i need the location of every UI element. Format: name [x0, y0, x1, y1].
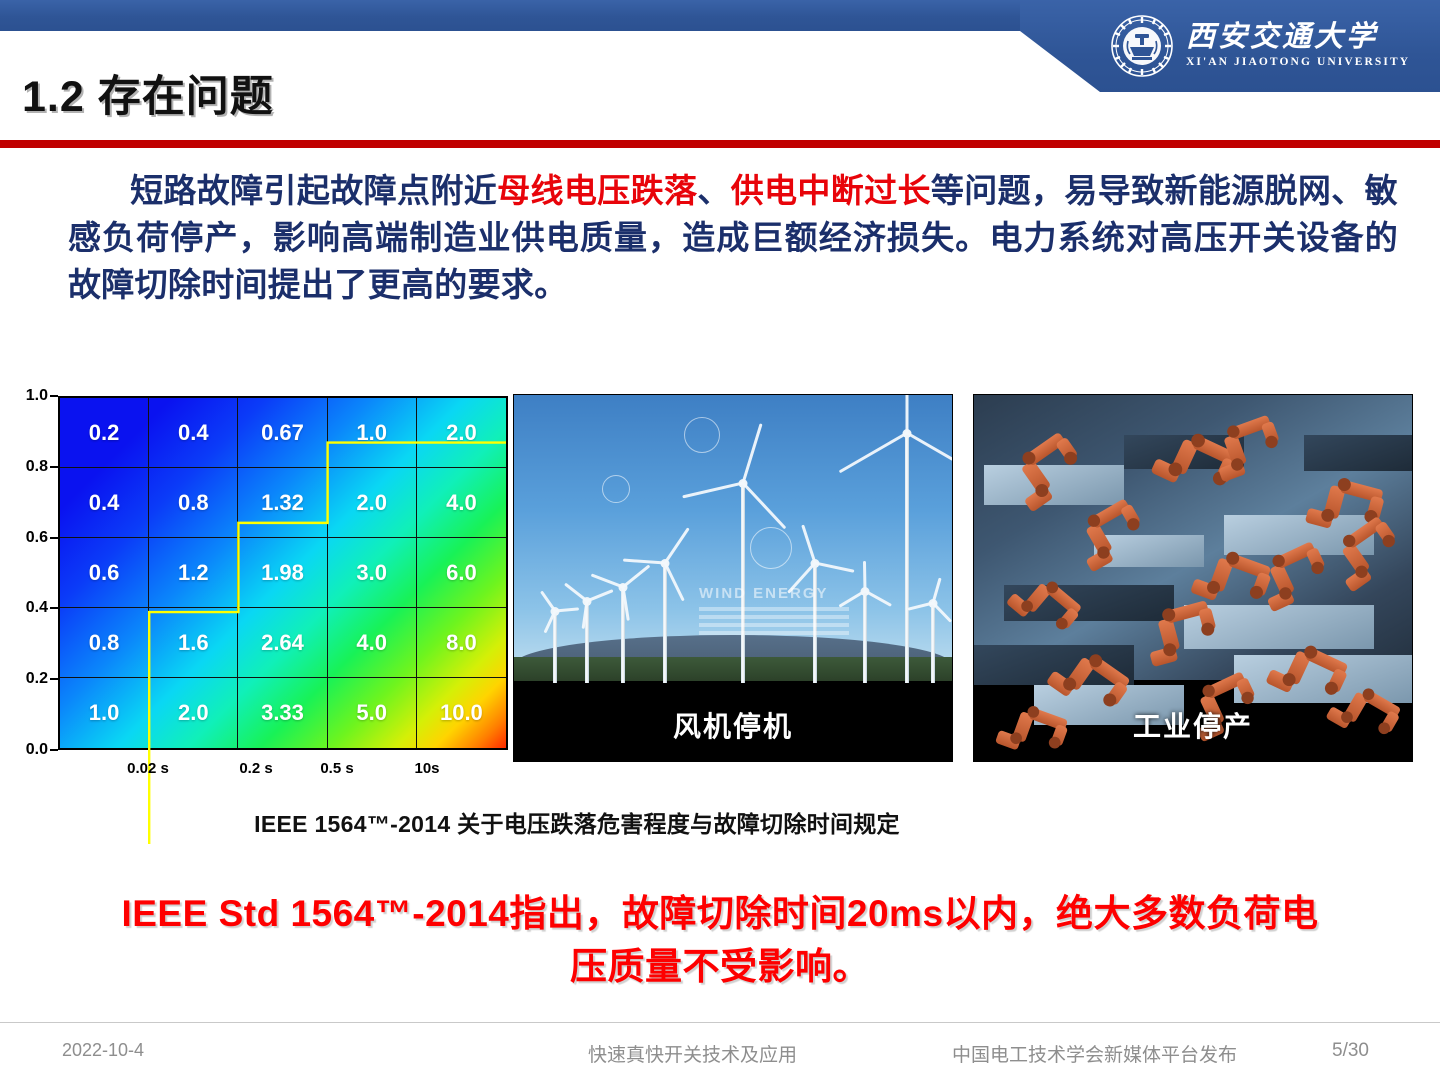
heatmap-cell: 0.2 — [60, 398, 149, 468]
y-axis-tick-label: 1.0 — [26, 387, 48, 405]
heatmap-cell: 1.0 — [328, 398, 417, 468]
y-axis-tick-label: 0.0 — [26, 741, 48, 759]
y-axis-tick-label: 0.4 — [26, 599, 48, 617]
wind-turbine-icon — [932, 603, 934, 683]
x-axis-tick-label: 10s — [414, 760, 439, 777]
heatmap-cell: 6.0 — [417, 538, 506, 608]
logo-name-cn: 西安交通大学 — [1186, 23, 1410, 52]
y-axis-tick-label: 0.6 — [26, 529, 48, 547]
slide-root: 西安交通大学 XI'AN JIAOTONG UNIVERSITY 1.2 存在问… — [0, 0, 1440, 1080]
wind-turbine-icon — [554, 611, 556, 683]
photo-caption: 风机停机 — [514, 705, 952, 745]
photo-watermark-lines — [699, 607, 849, 639]
heatmap-plot-area: 0.20.40.671.02.00.40.81.322.04.00.61.21.… — [58, 396, 508, 750]
page-title: 1.2 存在问题 — [22, 62, 274, 124]
university-logo: 西安交通大学 XI'AN JIAOTONG UNIVERSITY — [1110, 8, 1430, 84]
footer-topic: 快速真快开关技术及应用 — [588, 1040, 797, 1067]
wind-turbine-icon — [664, 563, 666, 683]
industrial-robots-photo: 工业停产 — [973, 394, 1413, 762]
heatmap-cell: 2.0 — [149, 678, 238, 748]
logo-name-en: XI'AN JIAOTONG UNIVERSITY — [1186, 57, 1410, 69]
wind-turbine-icon — [586, 601, 588, 683]
x-axis-tick-label: 0.02 s — [127, 760, 169, 777]
footer-organization: 中国电工技术学会新媒体平台发布 — [952, 1040, 1237, 1067]
heatmap-x-axis: 0.02 s0.2 s0.5 s10s — [58, 754, 508, 782]
heatmap-cell: 3.0 — [328, 538, 417, 608]
overlay-circle-icon — [602, 475, 630, 503]
overlay-circle-icon — [750, 527, 792, 569]
y-axis-tick-label: 0.2 — [26, 670, 48, 688]
wind-turbine-icon — [742, 483, 744, 683]
wind-farm-photo: WIND ENERGY 风机停机 — [513, 394, 953, 762]
conclusion-line-1: IEEE Std 1564™-2014指出，故障切除时间20ms以内，绝大多数负… — [60, 888, 1380, 941]
title-divider — [0, 140, 1440, 148]
heatmap-cell: 4.0 — [417, 468, 506, 538]
heatmap-cell: 0.8 — [149, 468, 238, 538]
y-axis-tick-label: 0.8 — [26, 458, 48, 476]
footer-divider — [0, 1022, 1440, 1023]
heatmap-cell: 5.0 — [328, 678, 417, 748]
heatmap-cell: 1.6 — [149, 608, 238, 678]
heatmap-cell: 0.4 — [60, 468, 149, 538]
photo-watermark-title: WIND ENERGY — [699, 585, 829, 602]
heatmap-cell: 2.0 — [417, 398, 506, 468]
conclusion-text: IEEE Std 1564™-2014指出，故障切除时间20ms以内，绝大多数负… — [60, 888, 1380, 993]
heatmap-cell: 0.6 — [60, 538, 149, 608]
heatmap-y-axis: 1.00.80.60.40.20.0 — [12, 392, 58, 750]
paragraph-seg-1: 短路故障引起故障点附近 — [130, 172, 497, 209]
heatmap-cell: 0.67 — [238, 398, 327, 468]
wind-turbine-icon — [864, 591, 866, 683]
heatmap-cell: 2.0 — [328, 468, 417, 538]
wind-turbine-icon — [622, 587, 624, 683]
x-axis-tick-label: 0.5 s — [320, 760, 353, 777]
photo-caption: 工业停产 — [974, 705, 1412, 745]
body-paragraph: 短路故障引起故障点附近母线电压跌落、供电中断过长等问题，易导致新能源脱网、敏感负… — [68, 168, 1398, 309]
wind-turbine-icon — [906, 433, 908, 683]
heatmap-cells: 0.20.40.671.02.00.40.81.322.04.00.61.21.… — [60, 398, 506, 748]
heatmap-cell: 4.0 — [328, 608, 417, 678]
heatmap-cell: 1.32 — [238, 468, 327, 538]
overlay-circle-icon — [684, 417, 720, 453]
footer-date: 2022-10-4 — [62, 1040, 144, 1061]
factory-platform — [1304, 435, 1413, 471]
heatmap-cell: 2.64 — [238, 608, 327, 678]
paragraph-highlight-1: 母线电压跌落 — [497, 172, 697, 209]
voltage-sag-heatmap: 1.00.80.60.40.20.0 0.20.40.671.02.00.40.… — [12, 392, 510, 772]
heatmap-cell: 10.0 — [417, 678, 506, 748]
paragraph-seg-2: 、 — [697, 172, 730, 209]
ground — [514, 657, 952, 681]
logo-text: 西安交通大学 XI'AN JIAOTONG UNIVERSITY — [1186, 23, 1410, 69]
paragraph-highlight-2: 供电中断过长 — [731, 172, 931, 209]
heatmap-cell: 1.2 — [149, 538, 238, 608]
heatmap-cell: 0.8 — [60, 608, 149, 678]
heatmap-cell: 3.33 — [238, 678, 327, 748]
footer-page-number: 5/30 — [1332, 1040, 1369, 1062]
heatmap-cell: 1.98 — [238, 538, 327, 608]
slide-footer: 2022-10-4 快速真快开关技术及应用 中国电工技术学会新媒体平台发布 5/… — [0, 1036, 1440, 1070]
university-seal-icon — [1110, 14, 1174, 78]
x-axis-tick-label: 0.2 s — [239, 760, 272, 777]
heatmap-cell: 1.0 — [60, 678, 149, 748]
chart-caption: IEEE 1564™-2014 关于电压跌落危害程度与故障切除时间规定 — [12, 805, 1142, 839]
heatmap-cell: 0.4 — [149, 398, 238, 468]
conclusion-line-2: 压质量不受影响。 — [60, 941, 1380, 994]
heatmap-cell: 8.0 — [417, 608, 506, 678]
